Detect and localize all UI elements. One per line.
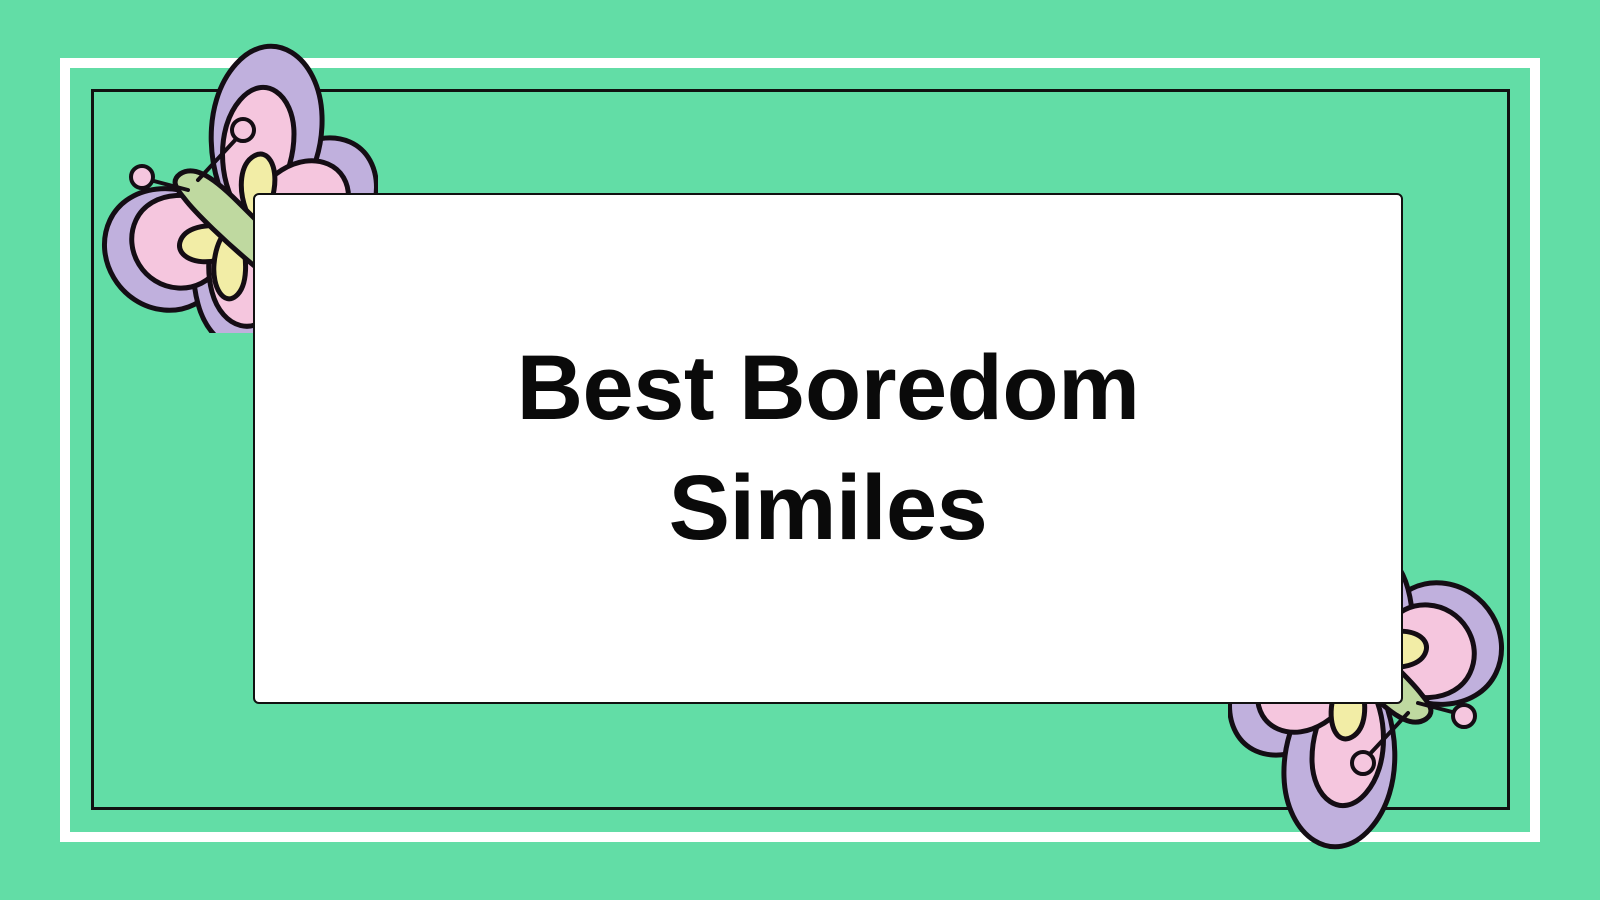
title-card: Best Boredom Similes [253, 193, 1403, 704]
page-title: Best Boredom Similes [498, 329, 1158, 568]
poster-canvas: Best Boredom Similes [0, 0, 1600, 900]
